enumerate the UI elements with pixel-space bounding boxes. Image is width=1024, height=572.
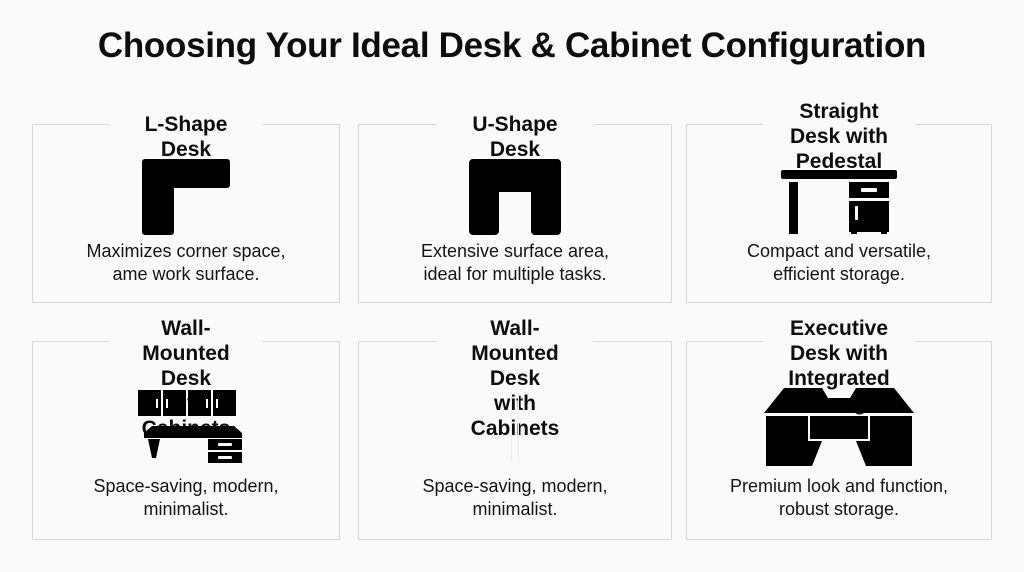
icon-slot-straight-desk-with-pedestal xyxy=(687,161,991,243)
card-body-straight-desk-with-pedestal: Compact and versatile, efficient storage… xyxy=(687,125,991,302)
card-body-l-shape-desk: Maximizes corner space, ame work surface… xyxy=(33,125,339,302)
card-wall-mounted-desk-with-cabinets-2[interactable]: Wall-Mounted Desk with Cabinets Space-sa… xyxy=(358,341,672,540)
card-u-shape-desk[interactable]: U-Shape Desk Extensive surface area, ide… xyxy=(358,124,672,303)
card-description-straight-desk-with-pedestal: Compact and versatile, efficient storage… xyxy=(697,240,981,286)
card-description-executive-desk-with-integrated-storage: Premium look and function, robust storag… xyxy=(697,475,981,521)
wall-mounted-desk-cabinets-icon xyxy=(130,390,242,464)
icon-slot-executive-desk-with-integrated-storage xyxy=(687,384,991,470)
executive-desk-storage-icon xyxy=(764,388,914,466)
upper-cabinets xyxy=(138,390,236,416)
l-shape-desk-icon xyxy=(142,159,230,235)
card-description-l-shape-desk: Maximizes corner space, ame work surface… xyxy=(43,240,329,286)
card-body-wall-mounted-desk-with-cabinets: Space-saving, modern, minimalist. xyxy=(33,342,339,539)
infographic-page: Choosing Your Ideal Desk & Cabinet Confi… xyxy=(0,0,1024,572)
icon-slot-wall-mounted-desk-with-cabinets-2 xyxy=(359,384,671,470)
card-body-u-shape-desk: Extensive surface area, ideal for multip… xyxy=(359,125,671,302)
card-grid: L-Shape Desk Maximizes corner space, ame… xyxy=(0,0,1024,572)
icon-slot-wall-mounted-desk-with-cabinets xyxy=(33,384,339,470)
straight-desk-pedestal-icon xyxy=(781,170,897,234)
card-body-wall-mounted-desk-with-cabinets-2: Space-saving, modern, minimalist. xyxy=(359,342,671,539)
card-straight-desk-with-pedestal[interactable]: Straight Desk with Pedestal xyxy=(686,124,992,303)
card-description-wall-mounted-desk-with-cabinets: Space-saving, modern, minimalist. xyxy=(43,475,329,521)
blank-lines-icon xyxy=(507,392,523,462)
icon-slot-l-shape-desk xyxy=(33,153,339,241)
icon-slot-u-shape-desk xyxy=(359,153,671,241)
card-executive-desk-with-integrated-storage[interactable]: Executive Desk with Integrated Storage xyxy=(686,341,992,540)
u-shape-desk-icon xyxy=(469,159,561,235)
card-description-wall-mounted-desk-with-cabinets-2: Space-saving, modern, minimalist. xyxy=(369,475,661,521)
card-description-u-shape-desk: Extensive surface area, ideal for multip… xyxy=(369,240,661,286)
card-wall-mounted-desk-with-cabinets[interactable]: Wall-Mounted Desk with Cabinets xyxy=(32,341,340,540)
card-l-shape-desk[interactable]: L-Shape Desk Maximizes corner space, ame… xyxy=(32,124,340,303)
card-body-executive-desk-with-integrated-storage: Premium look and function, robust storag… xyxy=(687,342,991,539)
